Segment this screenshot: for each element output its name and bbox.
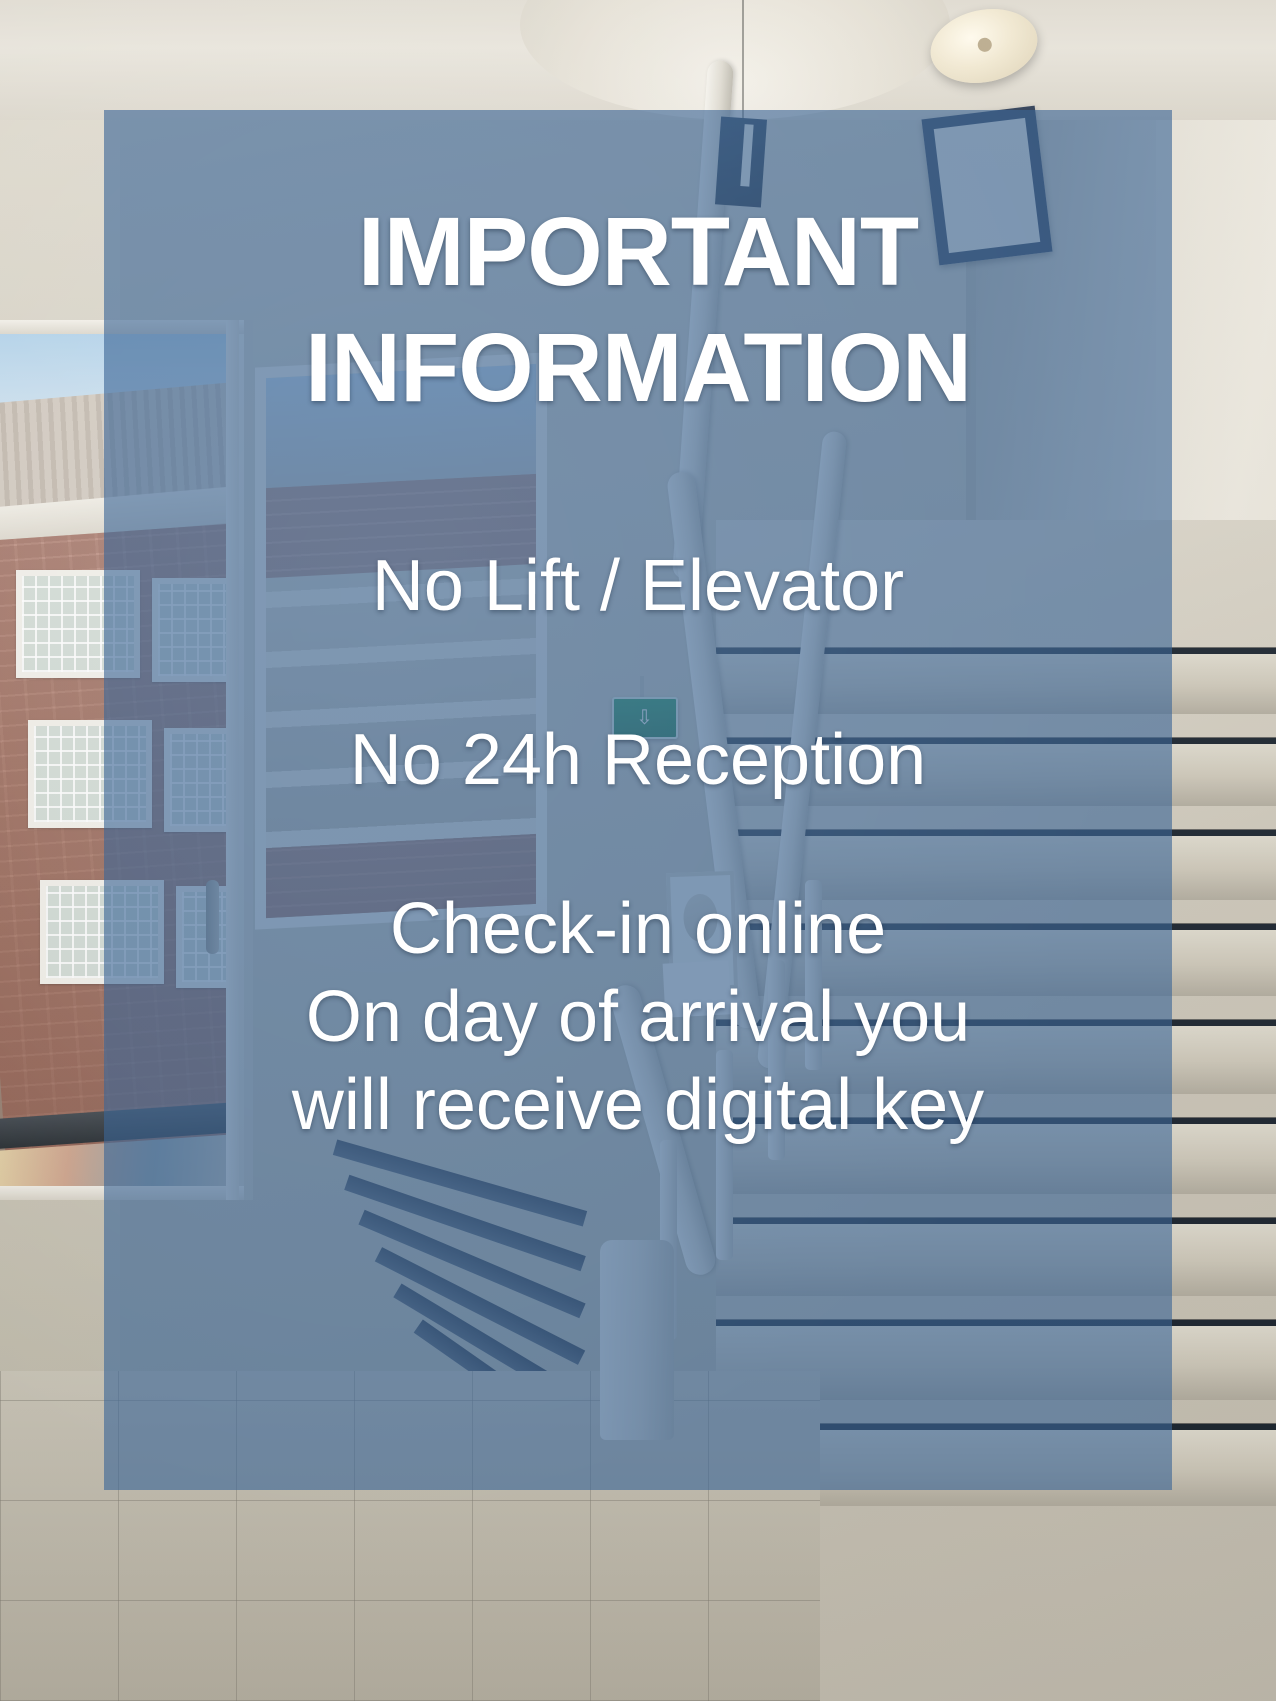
lamp-cord	[742, 0, 744, 120]
notice-item-reception: No 24h Reception	[118, 717, 1158, 805]
notice-title-line-2: INFORMATION	[122, 310, 1154, 426]
information-overlay-panel: IMPORTANT INFORMATION No Lift / Elevator…	[104, 110, 1172, 1490]
spacer-item-2	[118, 804, 1158, 886]
notice-title: IMPORTANT INFORMATION	[104, 194, 1172, 427]
notice-title-line-1: IMPORTANT	[122, 194, 1154, 310]
notice-item-checkin-line-1: Check-in online	[118, 886, 1158, 974]
notice-item-lift: No Lift / Elevator	[118, 543, 1158, 631]
notice-item-checkin-line-2: On day of arrival you	[118, 974, 1158, 1062]
spacer-item-1	[118, 631, 1158, 717]
screenshot-root: ⇩ IMPORTANT INFORMATION No Lift / Elevat…	[0, 0, 1276, 1701]
notice-body: No Lift / Elevator No 24h Reception Chec…	[104, 543, 1172, 1150]
notice-item-checkin-line-3: will receive digital key	[118, 1062, 1158, 1150]
